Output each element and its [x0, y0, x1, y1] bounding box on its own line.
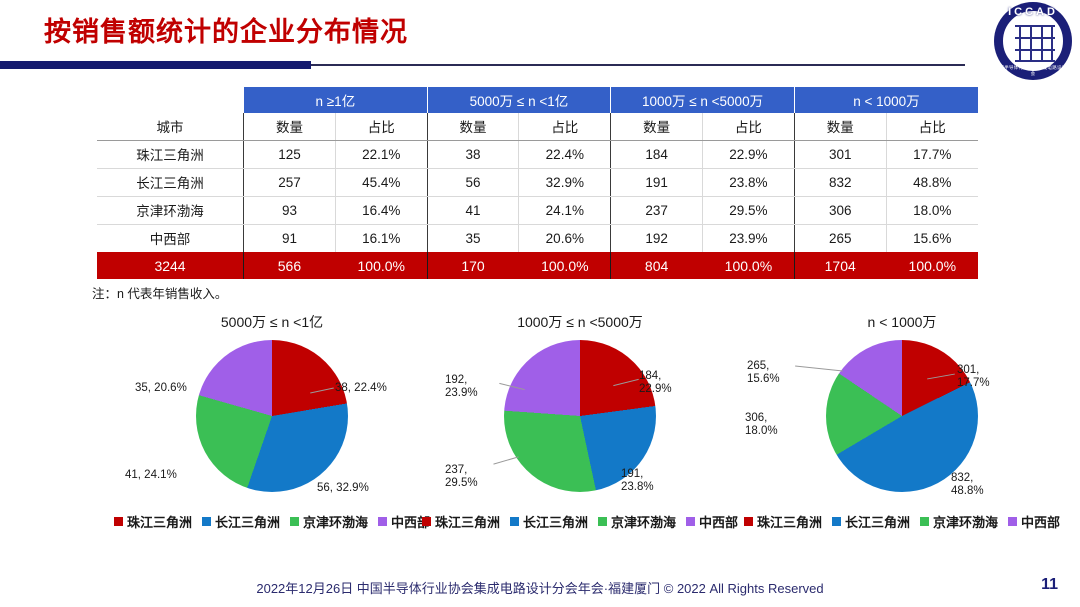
- row-cell: 257: [244, 168, 336, 196]
- sub-header-count-3: 数量: [794, 113, 886, 140]
- pie-area: 301, 17.7% 832, 48.8% 306, 18.0% 265, 15…: [737, 334, 1067, 504]
- legend-item: 京津环渤海: [920, 512, 998, 531]
- sub-header-pct-0: 占比: [335, 113, 427, 140]
- legend-label: 珠江三角洲: [127, 512, 192, 531]
- chart-title: 1000万 ≤ n <5000万: [415, 312, 745, 334]
- legend-swatch-icon: [510, 517, 519, 526]
- legend-swatch-icon: [744, 517, 753, 526]
- legend-label: 京津环渤海: [933, 512, 998, 531]
- row-cell: 16.4%: [335, 196, 427, 224]
- sub-header-count-1: 数量: [427, 113, 519, 140]
- pie-slices: [826, 340, 978, 492]
- row-cell: 15.6%: [886, 224, 978, 252]
- table-sub-header-row: 城市 数量 占比 数量 占比 数量 占比 数量 占比: [97, 113, 978, 140]
- total-cell: 100.0%: [702, 252, 794, 279]
- sub-header-pct-2: 占比: [702, 113, 794, 140]
- row-cell: 306: [794, 196, 886, 224]
- group-header-1: 5000万 ≤ n <1亿: [427, 87, 611, 113]
- row-cell: 17.7%: [886, 140, 978, 168]
- total-cell: 170: [427, 252, 519, 279]
- sub-header-count-2: 数量: [611, 113, 703, 140]
- row-cell: 24.1%: [519, 196, 611, 224]
- table-total-row: 3244 566 100.0% 170 100.0% 804 100.0% 17…: [97, 252, 978, 279]
- legend-swatch-icon: [290, 517, 299, 526]
- legend-swatch-icon: [686, 517, 695, 526]
- legend-item: 京津环渤海: [598, 512, 676, 531]
- logo-top-label: ICCAD: [994, 6, 1072, 18]
- row-cell: 832: [794, 168, 886, 196]
- title-divider-thick: [0, 61, 311, 69]
- row-cell: 56: [427, 168, 519, 196]
- total-cell: 804: [611, 252, 703, 279]
- pie-label: 56, 32.9%: [317, 482, 369, 495]
- legend-label: 珠江三角洲: [757, 512, 822, 531]
- total-cell: 100.0%: [886, 252, 978, 279]
- pie-label: 237, 29.5%: [445, 464, 478, 490]
- legend-item: 中西部: [686, 512, 738, 531]
- row-cell: 184: [611, 140, 703, 168]
- table-note: 注：n 代表年销售收入。: [92, 283, 227, 302]
- pie-label: 832, 48.8%: [951, 472, 984, 498]
- sub-header-pct-1: 占比: [519, 113, 611, 140]
- row-cell: 20.6%: [519, 224, 611, 252]
- total-cell: 100.0%: [335, 252, 427, 279]
- page-number: 11: [1041, 576, 1058, 594]
- legend-item: 中西部: [1008, 512, 1060, 531]
- total-cell: 566: [244, 252, 336, 279]
- legend-swatch-icon: [832, 517, 841, 526]
- group-header-2: 1000万 ≤ n <5000万: [611, 87, 795, 113]
- row-cell: 91: [244, 224, 336, 252]
- sub-header-city: 城市: [97, 113, 244, 140]
- table-group-header-row: n ≥1亿 5000万 ≤ n <1亿 1000万 ≤ n <5000万 n <…: [97, 87, 978, 113]
- pie-chart-1000w-5000w: 1000万 ≤ n <5000万 184, 22.9% 191, 23.8% 2…: [415, 312, 745, 592]
- legend-swatch-icon: [422, 517, 431, 526]
- row-city: 中西部: [97, 224, 244, 252]
- row-cell: 93: [244, 196, 336, 224]
- row-cell: 41: [427, 196, 519, 224]
- group-header-0: n ≥1亿: [244, 87, 428, 113]
- legend-label: 京津环渤海: [611, 512, 676, 531]
- chart-title: 5000万 ≤ n <1亿: [107, 312, 437, 334]
- sub-header-pct-3: 占比: [886, 113, 978, 140]
- legend-swatch-icon: [598, 517, 607, 526]
- pie-label: 301, 17.7%: [957, 364, 990, 390]
- row-cell: 237: [611, 196, 703, 224]
- legend-label: 中西部: [699, 512, 738, 531]
- total-cell: 1704: [794, 252, 886, 279]
- legend-item: 珠江三角洲: [114, 512, 192, 531]
- legend-label: 长江三角洲: [215, 512, 280, 531]
- chart-legend: 珠江三角洲长江三角洲京津环渤海中西部: [107, 512, 437, 531]
- pie-label: 38, 22.4%: [335, 382, 387, 395]
- row-cell: 191: [611, 168, 703, 196]
- chart-legend: 珠江三角洲长江三角洲京津环渤海中西部: [737, 512, 1067, 531]
- row-cell: 16.1%: [335, 224, 427, 252]
- row-cell: 22.1%: [335, 140, 427, 168]
- row-cell: 125: [244, 140, 336, 168]
- legend-label: 珠江三角洲: [435, 512, 500, 531]
- pie-area: 38, 22.4% 56, 32.9% 41, 24.1% 35, 20.6%: [107, 334, 437, 504]
- row-cell: 23.8%: [702, 168, 794, 196]
- leader-line: [795, 365, 843, 371]
- pie-chart-under-1000w: n < 1000万 301, 17.7% 832, 48.8% 306, 18.…: [737, 312, 1067, 592]
- group-header-blank: [97, 87, 244, 113]
- row-cell: 192: [611, 224, 703, 252]
- chart-title: n < 1000万: [737, 312, 1067, 334]
- legend-label: 京津环渤海: [303, 512, 368, 531]
- row-cell: 22.9%: [702, 140, 794, 168]
- table-row: 珠江三角洲 125 22.1% 38 22.4% 184 22.9% 301 1…: [97, 140, 978, 168]
- row-city: 长江三角洲: [97, 168, 244, 196]
- row-city: 京津环渤海: [97, 196, 244, 224]
- legend-item: 京津环渤海: [290, 512, 368, 531]
- pie-slices: [196, 340, 348, 492]
- iccad-logo: ICCAD 中国半导体行业协会集成电路设计分会: [994, 2, 1072, 80]
- pie-area: 184, 22.9% 191, 23.8% 237, 29.5% 192, 23…: [415, 334, 745, 504]
- pie-label: 191, 23.8%: [621, 468, 654, 494]
- pie-label: 306, 18.0%: [745, 412, 778, 438]
- row-cell: 29.5%: [702, 196, 794, 224]
- legend-swatch-icon: [202, 517, 211, 526]
- table-row: 长江三角洲 257 45.4% 56 32.9% 191 23.8% 832 4…: [97, 168, 978, 196]
- logo-bottom-label: 中国半导体行业协会集成电路设计分会: [994, 65, 1072, 77]
- sub-header-count-0: 数量: [244, 113, 336, 140]
- total-label: 3244: [97, 252, 244, 279]
- row-cell: 22.4%: [519, 140, 611, 168]
- pie-label: 35, 20.6%: [135, 382, 187, 395]
- row-cell: 32.9%: [519, 168, 611, 196]
- distribution-table: n ≥1亿 5000万 ≤ n <1亿 1000万 ≤ n <5000万 n <…: [97, 87, 978, 279]
- table-row: 中西部 91 16.1% 35 20.6% 192 23.9% 265 15.6…: [97, 224, 978, 252]
- legend-label: 长江三角洲: [845, 512, 910, 531]
- leader-line: [493, 456, 518, 464]
- row-cell: 45.4%: [335, 168, 427, 196]
- pie-label: 265, 15.6%: [747, 360, 780, 386]
- row-cell: 23.9%: [702, 224, 794, 252]
- row-city: 珠江三角洲: [97, 140, 244, 168]
- legend-label: 中西部: [1021, 512, 1060, 531]
- legend-swatch-icon: [1008, 517, 1017, 526]
- pie-label: 184, 22.9%: [639, 370, 672, 396]
- total-cell: 100.0%: [519, 252, 611, 279]
- legend-item: 长江三角洲: [202, 512, 280, 531]
- pie-chart-5000w-1yi: 5000万 ≤ n <1亿 38, 22.4% 56, 32.9% 41, 24…: [107, 312, 437, 592]
- pie-label: 192, 23.9%: [445, 374, 478, 400]
- legend-item: 长江三角洲: [510, 512, 588, 531]
- legend-item: 长江三角洲: [832, 512, 910, 531]
- row-cell: 35: [427, 224, 519, 252]
- footer-text: 2022年12月26日 中国半导体行业协会集成电路设计分会年会·福建厦门 © 2…: [0, 578, 1080, 597]
- row-cell: 48.8%: [886, 168, 978, 196]
- legend-item: 珠江三角洲: [422, 512, 500, 531]
- row-cell: 301: [794, 140, 886, 168]
- pie-label: 41, 24.1%: [125, 469, 177, 482]
- page-title: 按销售额统计的企业分布情况: [44, 10, 408, 49]
- legend-swatch-icon: [378, 517, 387, 526]
- row-cell: 265: [794, 224, 886, 252]
- row-cell: 18.0%: [886, 196, 978, 224]
- legend-label: 长江三角洲: [523, 512, 588, 531]
- row-cell: 38: [427, 140, 519, 168]
- logo-ring: [1001, 9, 1065, 73]
- group-header-3: n < 1000万: [794, 87, 978, 113]
- table-row: 京津环渤海 93 16.4% 41 24.1% 237 29.5% 306 18…: [97, 196, 978, 224]
- legend-swatch-icon: [114, 517, 123, 526]
- legend-swatch-icon: [920, 517, 929, 526]
- logo-grid-icon: [1015, 25, 1055, 61]
- legend-item: 珠江三角洲: [744, 512, 822, 531]
- chart-legend: 珠江三角洲长江三角洲京津环渤海中西部: [415, 512, 745, 531]
